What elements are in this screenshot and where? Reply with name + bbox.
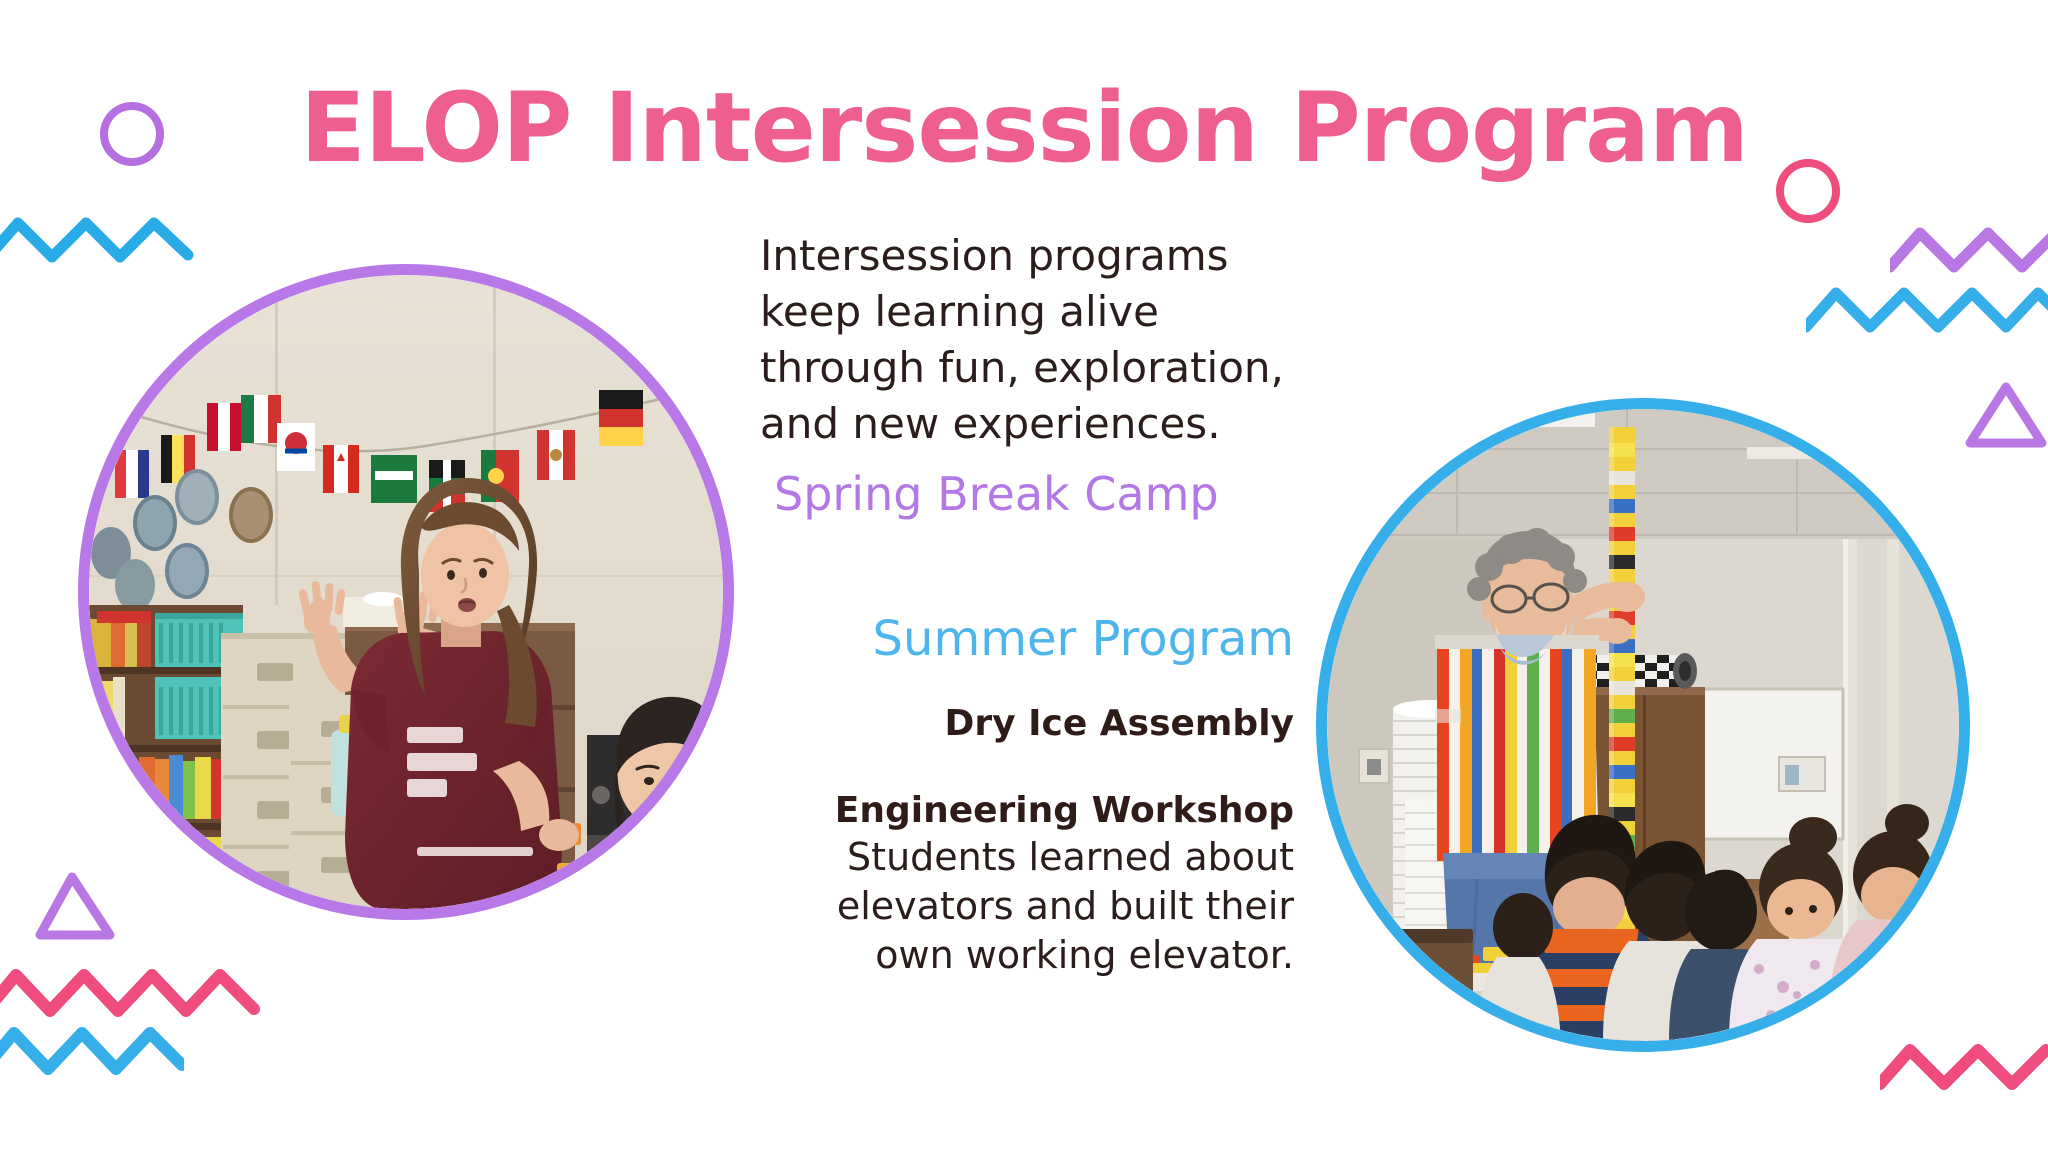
intro-paragraph: Intersession programs keep learning aliv… xyxy=(760,228,1300,451)
zigzag-blue-left-upper-icon xyxy=(0,205,200,275)
classroom-scene-illustration xyxy=(89,275,723,909)
text-column: Intersession programs keep learning aliv… xyxy=(760,228,1300,979)
spring-break-camp-photo-inner xyxy=(89,275,723,909)
engineering-workshop-description: Students learned about elevators and bui… xyxy=(760,833,1300,979)
summer-program-photo xyxy=(1316,398,1970,1052)
triangle-outline-purple-bottom-left-icon xyxy=(32,865,122,945)
triangle-outline-purple-right-icon xyxy=(1962,375,2048,453)
summer-program-photo-inner xyxy=(1327,409,1959,1041)
spring-break-camp-heading: Spring Break Camp xyxy=(774,467,1300,521)
engineering-workshop-heading: Engineering Workshop xyxy=(760,790,1300,831)
zigzag-blue-top-right-icon xyxy=(1806,275,2048,345)
poster-canvas: ELOP Intersession Program xyxy=(0,0,2048,1153)
page-title: ELOP Intersession Program xyxy=(0,72,2048,184)
zigzag-blue-bottom-left-icon xyxy=(0,1013,184,1088)
zigzag-pink-bottom-right-icon xyxy=(1880,1032,2048,1102)
spring-break-camp-photo xyxy=(78,264,734,920)
dry-ice-assembly-heading: Dry Ice Assembly xyxy=(760,703,1300,744)
lego-tower-scene-illustration xyxy=(1327,409,1959,1041)
summer-program-heading: Summer Program xyxy=(760,611,1300,667)
